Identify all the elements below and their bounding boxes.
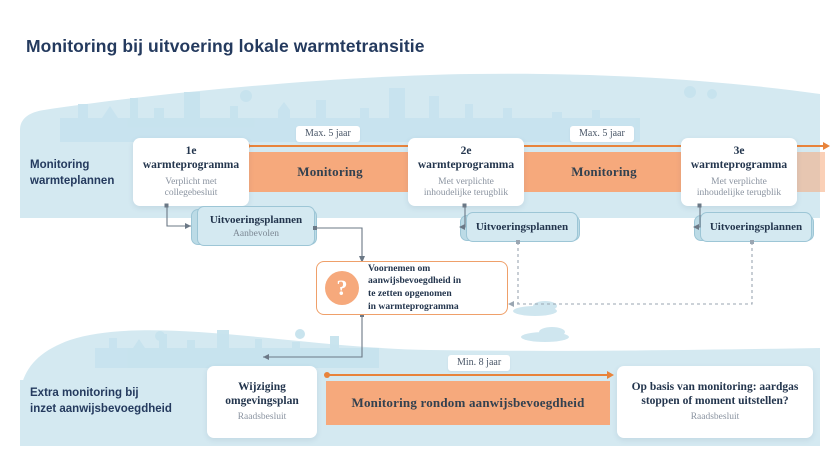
programme-card-3[interactable]: 3e warmteprogramma Met verplichte inhoud… bbox=[681, 138, 797, 206]
monitoring-bar-2: Monitoring bbox=[520, 152, 688, 192]
callout-line1: Voornemen om bbox=[368, 263, 461, 276]
bottom-timeline-arrow-line bbox=[328, 374, 608, 376]
timeline-arrow-3 bbox=[792, 141, 830, 150]
bottom-start-card-title-line2: omgevingsplan bbox=[225, 394, 299, 408]
bottom-monitoring-bar-label: Monitoring rondom aanwijsbevoegdheid bbox=[351, 395, 584, 411]
infographic-canvas: Monitoring bij uitvoering lokale warmtet… bbox=[0, 0, 840, 470]
programme-card-3-subtitle-line1: Met verplichte bbox=[697, 177, 781, 189]
implementation-box-2-front: Uitvoeringsplannen bbox=[466, 212, 578, 242]
duration-pill-1: Max. 5 jaar bbox=[296, 126, 360, 142]
bottom-start-card-subtitle: Raadsbesluit bbox=[238, 412, 287, 424]
timeline-arrow-1 bbox=[244, 141, 416, 150]
bottom-duration-pill: Min. 8 jaar bbox=[448, 355, 510, 371]
monitoring-bar-1-label: Monitoring bbox=[297, 164, 363, 180]
duration-pill-2: Max. 5 jaar bbox=[570, 126, 634, 142]
section-label-bottom-line1: Extra monitoring bij bbox=[30, 386, 190, 402]
bottom-end-card-title-line1: Op basis van monitoring: aardgas bbox=[632, 380, 799, 394]
implementation-box-3[interactable]: Uitvoeringsplannen bbox=[694, 212, 812, 242]
question-mark-icon: ? bbox=[325, 271, 359, 305]
implementation-box-2[interactable]: Uitvoeringsplannen bbox=[460, 212, 578, 242]
implementation-box-3-front: Uitvoeringsplannen bbox=[700, 212, 812, 242]
timeline-arrow-3-head bbox=[823, 142, 830, 150]
implementation-box-1[interactable]: Uitvoeringsplannen Aanbevolen bbox=[191, 206, 315, 246]
programme-card-1[interactable]: 1e warmteprogramma Verplicht met college… bbox=[133, 138, 249, 206]
programme-card-2-subtitle-line1: Met verplichte bbox=[424, 177, 508, 189]
programme-card-1-title-line2: warmteprogramma bbox=[143, 158, 239, 172]
programme-card-3-title-line2: warmteprogramma bbox=[691, 158, 787, 172]
monitoring-bar-1: Monitoring bbox=[246, 152, 414, 192]
cloud-icon bbox=[513, 301, 569, 342]
programme-card-3-title-line1: 3e bbox=[691, 144, 787, 158]
implementation-box-3-title: Uitvoeringsplannen bbox=[710, 221, 802, 233]
bottom-end-card-subtitle: Raadsbesluit bbox=[691, 412, 740, 424]
section-label-bottom: Extra monitoring bij inzet aanwijsbevoeg… bbox=[30, 386, 190, 417]
timeline-arrow-2 bbox=[518, 141, 690, 150]
programme-card-1-title-line1: 1e bbox=[143, 144, 239, 158]
bottom-end-card-title-line2: stoppen of moment uitstellen? bbox=[632, 394, 799, 408]
programme-card-3-subtitle-line2: inhoudelijke terugblik bbox=[697, 188, 781, 200]
implementation-box-1-subtitle: Aanbevolen bbox=[233, 229, 279, 239]
callout-line3: te zetten opgenomen bbox=[368, 288, 461, 301]
callout-line2: aanwijsbevoegdheid in bbox=[368, 275, 461, 288]
section-label-bottom-line2: inzet aanwijsbevoegdheid bbox=[30, 402, 190, 418]
page-title: Monitoring bij uitvoering lokale warmtet… bbox=[26, 36, 425, 57]
bottom-monitoring-bar: Monitoring rondom aanwijsbevoegdheid bbox=[326, 381, 610, 425]
bottom-end-card[interactable]: Op basis van monitoring: aardgas stoppen… bbox=[617, 366, 813, 438]
implementation-box-1-title: Uitvoeringsplannen bbox=[210, 214, 302, 226]
timeline-arrow-2-line bbox=[522, 145, 684, 147]
programme-card-1-subtitle: Verplicht met collegebesluit bbox=[141, 177, 241, 201]
bottom-start-card[interactable]: Wijziging omgevingsplan Raadsbesluit bbox=[207, 366, 317, 438]
callout-box[interactable]: ? Voornemen om aanwijsbevoegdheid in te … bbox=[316, 261, 508, 315]
bottom-timeline-arrow bbox=[324, 370, 614, 379]
monitoring-bar-continuation bbox=[793, 152, 825, 192]
programme-card-2-subtitle-line2: inhoudelijke terugblik bbox=[424, 188, 508, 200]
implementation-box-1-front: Uitvoeringsplannen Aanbevolen bbox=[197, 206, 315, 246]
programme-card-2-title-line2: warmteprogramma bbox=[418, 158, 514, 172]
callout-text: Voornemen om aanwijsbevoegdheid in te ze… bbox=[368, 263, 461, 314]
programme-card-2[interactable]: 2e warmteprogramma Met verplichte inhoud… bbox=[408, 138, 524, 206]
timeline-arrow-1-line bbox=[248, 145, 410, 147]
callout-line4: in warmteprogramma bbox=[368, 301, 461, 314]
bottom-start-card-title-line1: Wijziging bbox=[225, 380, 299, 394]
programme-card-2-title-line1: 2e bbox=[418, 144, 514, 158]
monitoring-bar-2-label: Monitoring bbox=[571, 164, 637, 180]
bottom-timeline-arrow-head bbox=[607, 371, 614, 379]
implementation-box-2-title: Uitvoeringsplannen bbox=[476, 221, 568, 233]
